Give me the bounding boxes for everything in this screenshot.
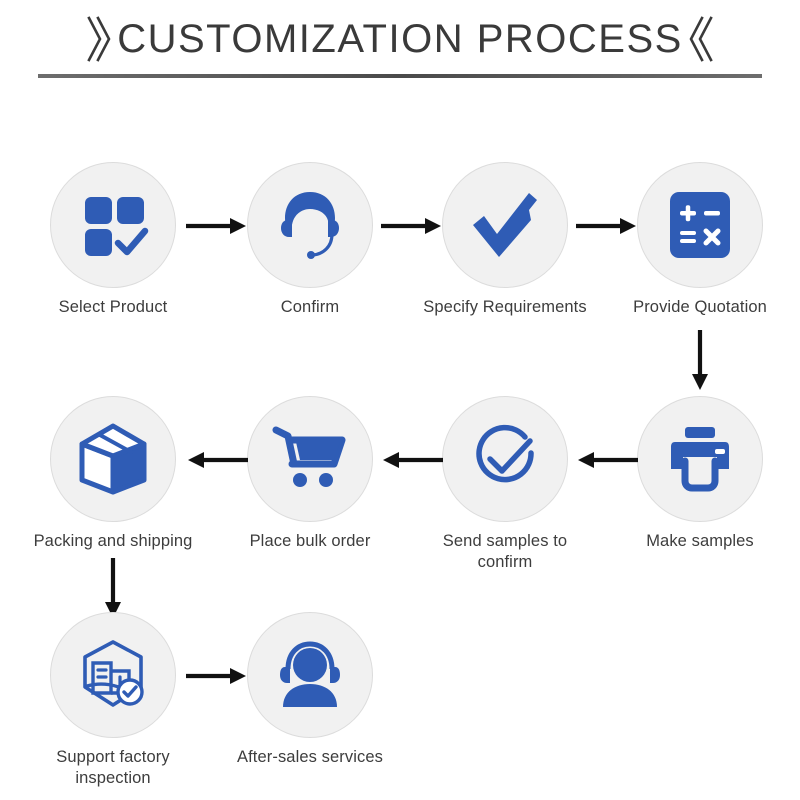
step-icon-bubble <box>637 396 763 522</box>
arrow-row1-step2-to-step3 <box>381 216 443 236</box>
step-specify-requirements[interactable]: Specify Requirements <box>420 162 590 318</box>
package-box-icon <box>74 422 152 496</box>
step-label: After-sales services <box>225 747 395 768</box>
step-icon-bubble <box>442 162 568 288</box>
step-label: Send samples to confirm <box>420 531 590 573</box>
step-icon-bubble <box>637 162 763 288</box>
step-place-bulk-order[interactable]: Place bulk order <box>225 396 395 552</box>
step-icon-bubble <box>50 162 176 288</box>
step-select-product[interactable]: Select Product <box>28 162 198 318</box>
step-label: Packing and shipping <box>28 531 198 552</box>
arrow-row3-step1-to-step2 <box>186 666 248 686</box>
arrow-row2-step3-to-step2 <box>381 450 443 470</box>
step-send-samples-to-confirm[interactable]: Send samples to confirm <box>420 396 590 573</box>
step-icon-bubble <box>247 162 373 288</box>
grid-squares-check-icon <box>77 189 149 261</box>
step-provide-quotation[interactable]: Provide Quotation <box>615 162 785 318</box>
step-label: Select Product <box>28 297 198 318</box>
factory-shield-check-icon <box>75 637 151 713</box>
step-packing-and-shipping[interactable]: Packing and shipping <box>28 396 198 552</box>
support-agent-headset-icon <box>272 187 348 263</box>
person-headphones-icon <box>272 639 348 711</box>
arrow-row1-step1-to-step2 <box>186 216 248 236</box>
step-icon-bubble <box>442 396 568 522</box>
step-label: Make samples <box>615 531 785 552</box>
step-make-samples[interactable]: Make samples <box>615 396 785 552</box>
step-support-factory-inspection[interactable]: Support factory inspection <box>28 612 198 789</box>
step-after-sales-services[interactable]: After-sales services <box>225 612 395 768</box>
arrow-row2-step4-to-step3 <box>576 450 638 470</box>
arrow-row2-step2-to-step1 <box>186 450 248 470</box>
arrow-row2-to-row3 <box>102 558 124 620</box>
calculator-icon <box>667 189 733 261</box>
step-confirm[interactable]: Confirm <box>225 162 395 318</box>
process-flow: Select Product Confirm Speci <box>0 0 800 800</box>
printer-icon <box>663 425 737 493</box>
arrow-row1-step3-to-step4 <box>576 216 638 236</box>
step-label: Specify Requirements <box>420 297 590 318</box>
shopping-cart-icon <box>272 424 348 494</box>
step-label: Place bulk order <box>225 531 395 552</box>
step-label: Provide Quotation <box>615 297 785 318</box>
step-label: Confirm <box>225 297 395 318</box>
step-icon-bubble <box>247 612 373 738</box>
step-label: Support factory inspection <box>28 747 198 789</box>
step-icon-bubble <box>247 396 373 522</box>
circle-check-icon <box>467 421 543 497</box>
step-icon-bubble <box>50 396 176 522</box>
checkmark-icon <box>467 187 543 263</box>
step-icon-bubble <box>50 612 176 738</box>
arrow-row1-to-row2 <box>689 330 711 392</box>
